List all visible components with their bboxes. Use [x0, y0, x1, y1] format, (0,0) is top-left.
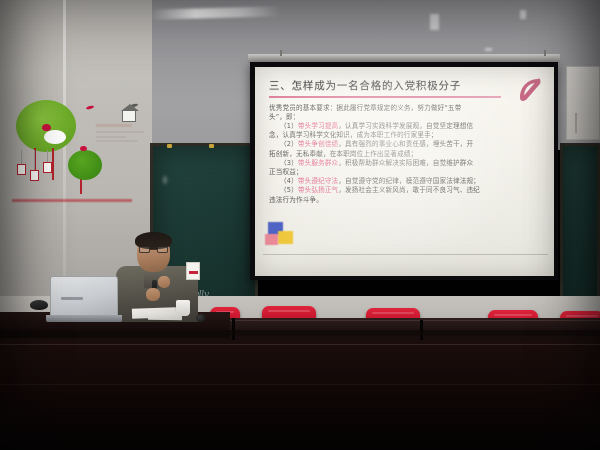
- deco-square: [278, 231, 293, 244]
- glasses-icon: [139, 246, 168, 253]
- slide-line: （1）带头学习提高，认真学习实践科学发展观，自觉坚定理想信: [269, 122, 542, 131]
- small-tree-icon: [68, 150, 102, 180]
- slide-decoration: [265, 222, 299, 252]
- wall-panel: [566, 66, 600, 140]
- lecture-hall-photo: nedatsaylly 三、怎样成为一名合格的入党积极分子 优秀党员的基本: [0, 0, 600, 450]
- slide-line: （3）带头服务群众，积极帮助群众解决实际困难，自觉维护群众: [269, 159, 542, 168]
- title-underline: [269, 96, 501, 98]
- bird-icon: [80, 146, 87, 151]
- speaker-hand: [158, 276, 170, 288]
- slide-title: 三、怎样成为一名合格的入党积极分子: [269, 78, 542, 93]
- birdhouse-icon: [43, 162, 52, 173]
- slide-line: 违法行为作斗争。: [269, 196, 542, 205]
- speaker-hand: [146, 288, 160, 301]
- paper-cup: [176, 300, 190, 316]
- birdhouse-icon: [17, 164, 26, 175]
- wall-notice: [186, 262, 200, 280]
- slide-line: 头”，即：: [269, 113, 542, 122]
- slide-line: 正当权益；: [269, 168, 542, 177]
- silver-laptop: [46, 276, 122, 322]
- slide-body: 优秀党员的基本要求：据此履行党章规定的义务，努力做好“五带 头”，即： （1）带…: [269, 104, 542, 205]
- hammer-and-sickle-icon: [517, 75, 545, 102]
- desk-microphone-head: [196, 314, 206, 322]
- foreground-desk-row: [0, 340, 600, 450]
- flying-bird-icon: [86, 105, 95, 110]
- computer-mouse: [30, 300, 48, 310]
- slide-line: 拓创新，无私奉献，在本职岗位上作出显著成绩；: [269, 150, 542, 159]
- presentation-slide: 三、怎样成为一名合格的入党积极分子 优秀党员的基本要求：据此履行党章规定的义务，…: [255, 67, 554, 276]
- slide-line: （5）带头弘扬正气，发扬社会主义新风尚，敢于同不良习气、违纪: [269, 186, 542, 195]
- bird-icon: [42, 124, 51, 131]
- slide-footer-rule: [263, 254, 548, 255]
- slide-line: （2）带头争创佳绩，具有强烈的事业心和责任感，埋头苦干，开: [269, 140, 542, 149]
- birdhouse-icon: [30, 170, 39, 181]
- tree-and-birds-wall-poster: [2, 92, 150, 220]
- slide-line: 优秀党员的基本要求：据此履行党章规定的义务，努力做好“五带: [269, 104, 542, 113]
- deco-square: [265, 234, 278, 245]
- projection-screen: 三、怎样成为一名合格的入党积极分子 优秀党员的基本要求：据此履行党章规定的义务，…: [250, 62, 558, 280]
- poster-caption: [96, 124, 146, 145]
- house-icon: [122, 110, 136, 122]
